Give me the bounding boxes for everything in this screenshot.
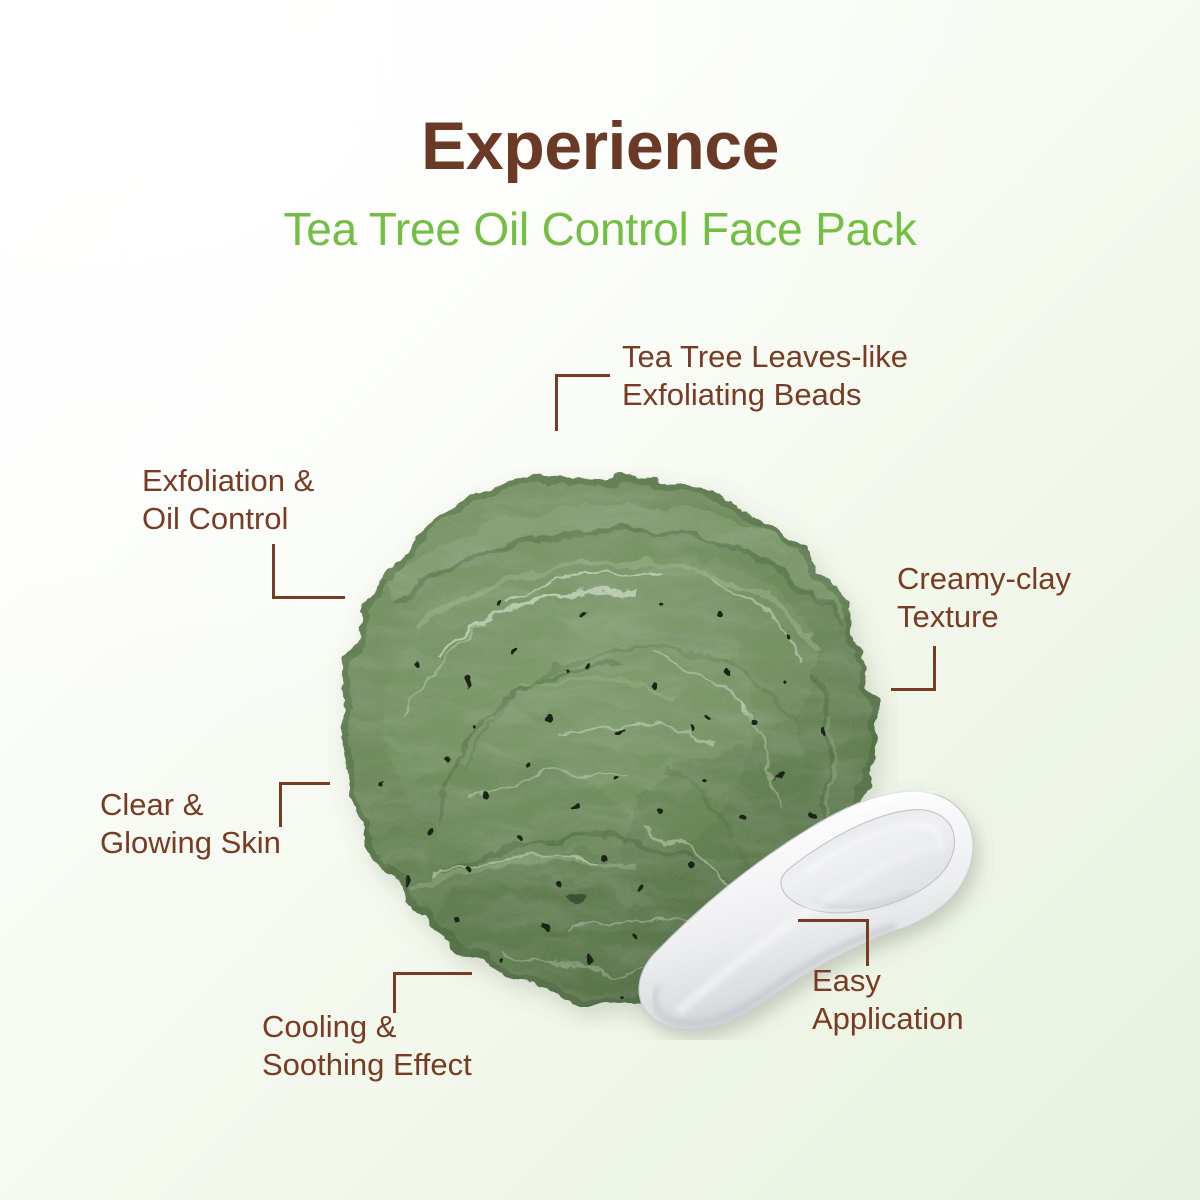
callout-clear-glowing-skin: Clear & Glowing Skin xyxy=(100,786,380,863)
leader-line-easy-application xyxy=(798,919,869,966)
callout-creamy-clay-texture: Creamy-clay Texture xyxy=(897,560,1157,637)
product-feature-poster: Experience Tea Tree Oil Control Face Pac… xyxy=(0,0,1200,1200)
callout-exfoliating-beads: Tea Tree Leaves-like Exfoliating Beads xyxy=(622,338,1022,415)
leader-line-cooling xyxy=(393,972,472,1013)
callout-cooling-soothing-effect: Cooling & Soothing Effect xyxy=(262,1008,582,1085)
page-title: Experience xyxy=(0,112,1200,180)
callout-easy-application: Easy Application xyxy=(812,962,1072,1039)
leader-line-beads xyxy=(555,374,610,431)
leader-line-exfoliation xyxy=(272,544,345,599)
page-subtitle: Tea Tree Oil Control Face Pack xyxy=(0,180,1200,252)
heading-block: Experience Tea Tree Oil Control Face Pac… xyxy=(0,112,1200,252)
leader-line-creamy-clay xyxy=(891,646,936,691)
callout-exfoliation-oil-control: Exfoliation & Oil Control xyxy=(142,462,422,539)
